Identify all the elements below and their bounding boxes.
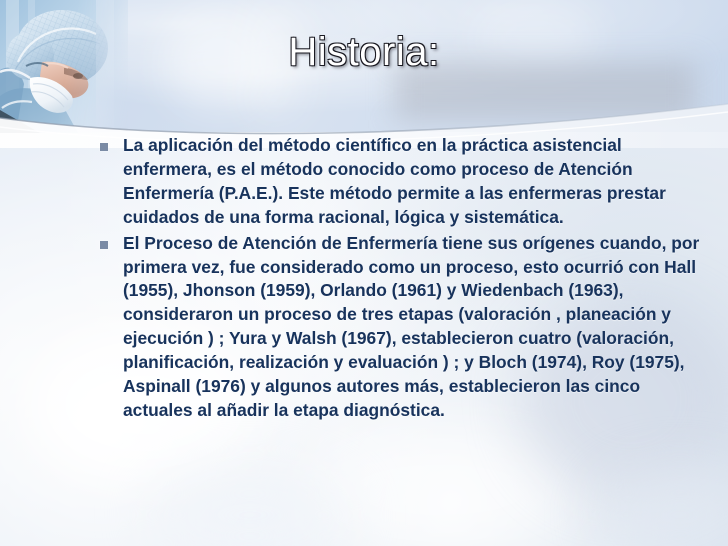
list-item: La aplicación del método científico en l… [100, 134, 700, 230]
square-bullet-icon [100, 241, 108, 249]
bullet-text: El Proceso de Atención de Enfermería tie… [123, 232, 700, 423]
list-item: El Proceso de Atención de Enfermería tie… [100, 232, 700, 423]
page-title: Historia: [0, 30, 728, 75]
bullet-text: La aplicación del método científico en l… [123, 134, 700, 230]
slide-body: La aplicación del método científico en l… [100, 134, 700, 425]
square-bullet-icon [100, 143, 108, 151]
presentation-slide: Historia: La aplicación del método cient… [0, 0, 728, 546]
